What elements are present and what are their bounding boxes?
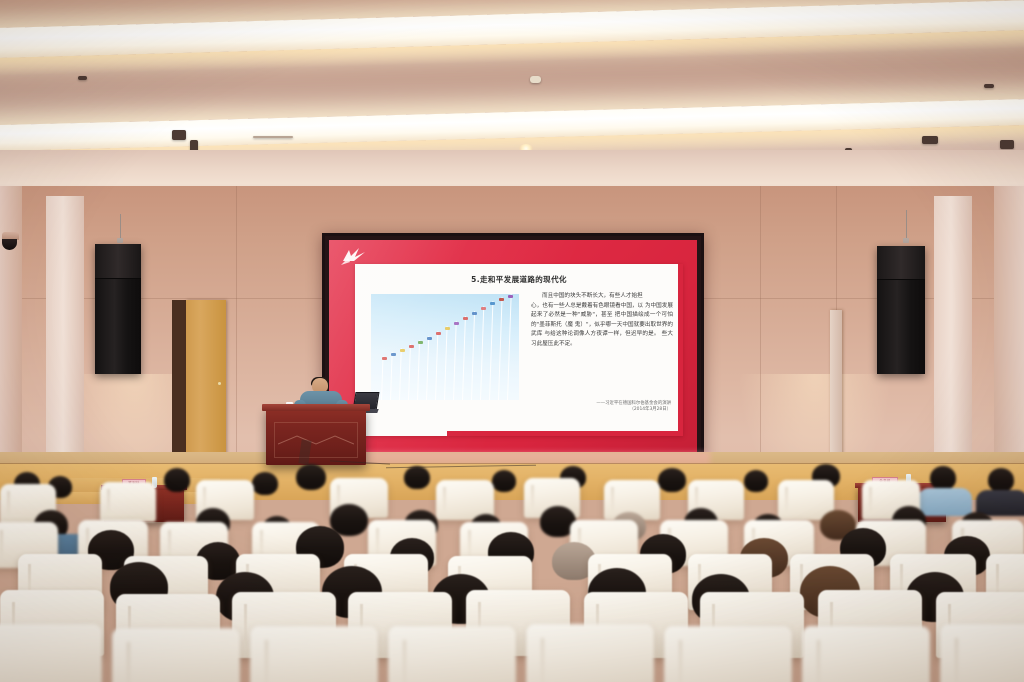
slide-photo-flags — [371, 294, 519, 400]
attendee-head — [744, 470, 768, 492]
ceiling-rail — [253, 136, 293, 138]
speaker-hook — [903, 238, 909, 243]
slide-title: 5.走和平发展道路的现代化 — [355, 274, 683, 285]
speaker-hook — [117, 238, 123, 243]
chair[interactable] — [100, 482, 156, 522]
chair[interactable] — [664, 626, 792, 682]
projection-screen: 5.走和平发展道路的现代化 — [322, 233, 704, 461]
ceiling-spot-fixture — [530, 76, 541, 83]
conference-hall-photo: 5.走和平发展道路的现代化 — [0, 0, 1024, 682]
ceiling-spot-fixture — [922, 136, 938, 144]
ceiling-spot-fixture — [78, 76, 87, 80]
chair[interactable] — [940, 624, 1024, 682]
door-knob-icon[interactable] — [218, 382, 221, 385]
podium-top-surface — [262, 404, 370, 411]
ceiling-spot-fixture — [1000, 140, 1014, 149]
right-loudspeaker — [877, 246, 925, 374]
ceiling-spot-fixture — [984, 84, 994, 88]
slide-body-text: 而且中国的块头不断长大，有些人才始担 心，也有一些人总是戴着有色眼镜看中国，以 … — [531, 292, 673, 350]
attendee-head — [988, 468, 1014, 492]
slide-body-line: 心，也有一些人总是戴着有色眼镜看中国，以 — [531, 303, 643, 309]
dome-camera-icon — [2, 232, 19, 250]
slide-attribution: ——习近平在德国科尔伯基金会的演讲 （2014年3月28日） — [596, 401, 671, 414]
podium-carving — [278, 434, 354, 446]
wall-seam — [760, 186, 761, 481]
attendee-head — [252, 472, 278, 495]
wall-pillar-right — [934, 196, 972, 484]
chair[interactable] — [388, 626, 516, 682]
wall-pillar-left — [46, 196, 84, 484]
attendee-head — [658, 468, 686, 492]
slide-accent-side — [678, 264, 683, 436]
chair[interactable] — [802, 626, 930, 682]
slide-accent-bar — [447, 431, 683, 436]
camera-dome — [2, 239, 17, 250]
chair[interactable] — [526, 624, 654, 682]
speaker-horn-section — [877, 246, 925, 280]
slide-body-line: 与给这种论调像人方夜谭一样，但迟早的是。 — [544, 331, 659, 337]
stage-side-door-right[interactable] — [830, 310, 842, 466]
podium — [266, 408, 366, 465]
attendee-head — [296, 464, 326, 490]
slide-body-line: 而且中国的块头不断长大，有些人才始担 — [531, 292, 673, 302]
left-loudspeaker — [95, 244, 141, 374]
attendee-shoulders — [918, 488, 972, 516]
doorway-opening — [172, 300, 186, 464]
wall-left-column — [0, 186, 22, 481]
speaker-suspension-wire — [120, 214, 121, 240]
attendee-head — [492, 470, 516, 492]
attendee-head — [164, 468, 190, 492]
speaker-suspension-wire — [906, 210, 907, 240]
speaker-horn-section — [95, 244, 141, 279]
chair[interactable] — [112, 628, 240, 682]
slide-attribution-date: （2014年3月28日） — [596, 407, 671, 414]
presentation-slide: 5.走和平发展道路的现代化 — [329, 240, 697, 454]
ceiling-projector-mount — [172, 130, 186, 140]
wall-seam — [236, 186, 237, 481]
chair[interactable] — [0, 624, 102, 682]
audience-seating — [0, 462, 1024, 682]
chair[interactable] — [250, 626, 378, 682]
wall-right-column — [994, 186, 1024, 481]
slide-content-card: 5.走和平发展道路的现代化 — [355, 264, 683, 436]
stage-side-door[interactable] — [186, 300, 226, 465]
attendee-head — [404, 466, 430, 489]
attendee-head — [930, 466, 956, 490]
